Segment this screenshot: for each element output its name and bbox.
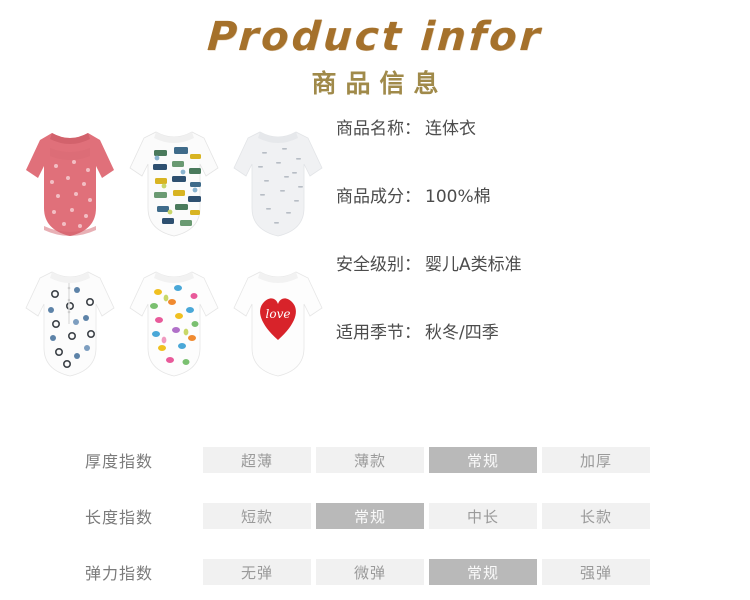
index-label-thickness: 厚度指数: [85, 448, 203, 472]
index-options-length: 短款 常规 中长 长款: [203, 503, 650, 529]
product-image-colorful-animal-bodysuit[interactable]: [122, 258, 226, 398]
spec-label-composition: 商品成分：: [336, 186, 421, 208]
index-option-length-1[interactable]: 常规: [316, 503, 424, 529]
spec-row-season: 适用季节： 秋冬/四季: [336, 322, 666, 390]
index-options-thickness: 超薄 薄款 常规 加厚: [203, 447, 650, 473]
spec-row-composition: 商品成分： 100%棉: [336, 186, 666, 254]
page-title-english: Product infor: [0, 14, 750, 60]
product-image-black-white-print-bodysuit[interactable]: [18, 258, 122, 398]
page-title-chinese: 商品信息: [0, 64, 750, 100]
index-option-elasticity-3[interactable]: 强弹: [542, 559, 650, 585]
spec-label-safety-level: 安全级别：: [336, 254, 421, 276]
product-image-love-heart-bodysuit[interactable]: love: [226, 258, 330, 398]
spec-value-name: 连体衣: [425, 118, 476, 140]
svg-text:love: love: [266, 307, 291, 321]
spec-row-safety-level: 安全级别： 婴儿A类标准: [336, 254, 666, 322]
index-row-length: 长度指数 短款 常规 中长 长款: [85, 488, 685, 544]
product-index-table: 厚度指数 超薄 薄款 常规 加厚 长度指数 短款 常规 中长 长款 弹力指数 无…: [85, 432, 685, 600]
index-option-length-2[interactable]: 中长: [429, 503, 537, 529]
index-option-thickness-3[interactable]: 加厚: [542, 447, 650, 473]
spec-label-name: 商品名称：: [336, 118, 421, 140]
index-label-elasticity: 弹力指数: [85, 560, 203, 584]
product-image-gallery: love: [18, 118, 330, 398]
index-option-length-0[interactable]: 短款: [203, 503, 311, 529]
index-option-elasticity-2[interactable]: 常规: [429, 559, 537, 585]
index-option-length-3[interactable]: 长款: [542, 503, 650, 529]
index-option-thickness-1[interactable]: 薄款: [316, 447, 424, 473]
product-image-vehicle-print-bodysuit[interactable]: [122, 118, 226, 258]
index-option-elasticity-0[interactable]: 无弹: [203, 559, 311, 585]
product-spec-list: 商品名称： 连体衣 商品成分： 100%棉 安全级别： 婴儿A类标准 适用季节：…: [336, 118, 666, 390]
index-row-thickness: 厚度指数 超薄 薄款 常规 加厚: [85, 432, 685, 488]
spec-row-name: 商品名称： 连体衣: [336, 118, 666, 186]
spec-label-season: 适用季节：: [336, 322, 421, 344]
index-option-elasticity-1[interactable]: 微弹: [316, 559, 424, 585]
product-image-coral-floral-bodysuit[interactable]: [18, 118, 122, 258]
product-image-gray-speckle-bodysuit[interactable]: [226, 118, 330, 258]
index-option-thickness-0[interactable]: 超薄: [203, 447, 311, 473]
spec-value-season: 秋冬/四季: [425, 322, 499, 344]
page-header: Product infor 商品信息: [0, 0, 750, 112]
index-label-length: 长度指数: [85, 504, 203, 528]
spec-value-safety-level: 婴儿A类标准: [425, 254, 522, 276]
index-options-elasticity: 无弹 微弹 常规 强弹: [203, 559, 650, 585]
index-row-elasticity: 弹力指数 无弹 微弹 常规 强弹: [85, 544, 685, 600]
spec-value-composition: 100%棉: [425, 186, 491, 208]
index-option-thickness-2[interactable]: 常规: [429, 447, 537, 473]
